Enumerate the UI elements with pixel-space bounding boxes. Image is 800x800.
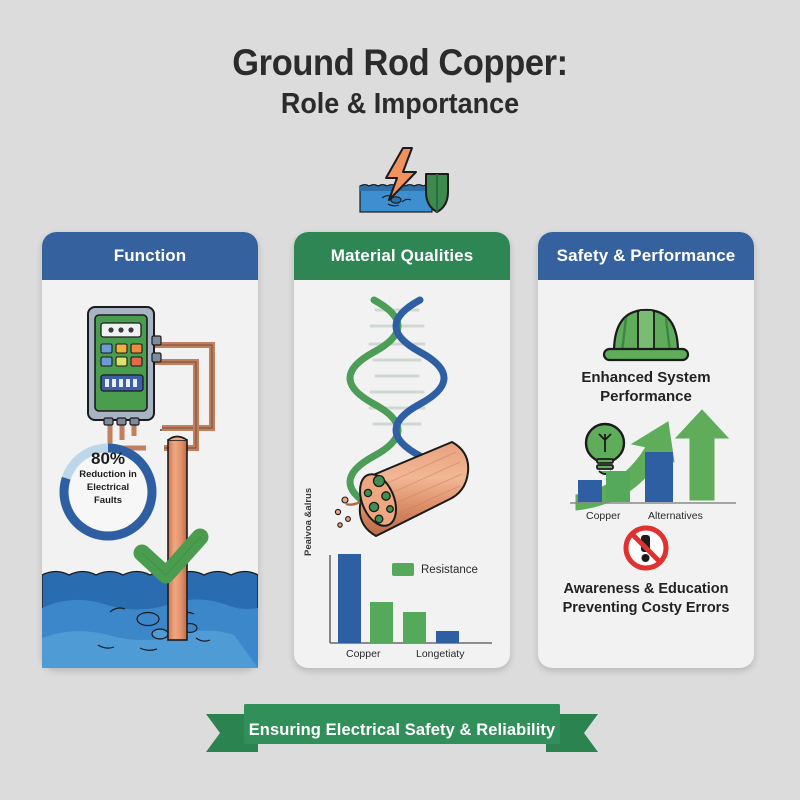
chart-xlabel-copper: Copper (346, 648, 380, 660)
safety-text-block-1: Enhanced System Performance (538, 368, 754, 406)
chart-xlabel-alternatives: Alternatives (648, 510, 703, 522)
page-title: Ground Rod Copper: Role & Importance (0, 44, 800, 119)
chart-ylabel-material: Peaivoa &alrus (303, 466, 314, 556)
lightning-strike-ground-shield-icon (358, 146, 454, 220)
card-function-header: Function (42, 232, 258, 280)
safety-text-2-line-2: Preventing Costy Errors (538, 599, 754, 618)
title-main: Ground Rod Copper: (28, 44, 772, 83)
infographic-canvas: Ground Rod Copper: Role & Importance Fun… (0, 0, 800, 800)
chart-xlabel-longetiaty: Longetiaty (416, 648, 464, 660)
card-function[interactable]: Function (42, 232, 258, 668)
chart-legend-material: Resistance (392, 563, 478, 576)
card-material-qualities-header: Material Qualities (294, 232, 510, 280)
chart-xlabel-copper-2: Copper (586, 510, 620, 522)
ribbon-shape (206, 702, 598, 758)
footer-ribbon: Ensuring Electrical Safety & Reliability (206, 702, 598, 758)
card-function-body (42, 280, 258, 668)
safety-text-1-line-2: Performance (538, 387, 754, 406)
card-material-qualities[interactable]: Material Qualities (294, 232, 510, 668)
legend-label-resistance: Resistance (421, 564, 478, 576)
card-material-qualities-body (294, 280, 510, 668)
safety-text-2-line-1: Awareness & Education (538, 580, 754, 599)
safety-text-block-2: Awareness & Education Preventing Costy E… (538, 580, 754, 618)
card-safety-performance-header: Safety & Performance (538, 232, 754, 280)
safety-text-1-line-1: Enhanced System (538, 368, 754, 387)
legend-swatch-resistance (392, 563, 414, 576)
title-subtitle: Role & Importance (28, 89, 772, 119)
